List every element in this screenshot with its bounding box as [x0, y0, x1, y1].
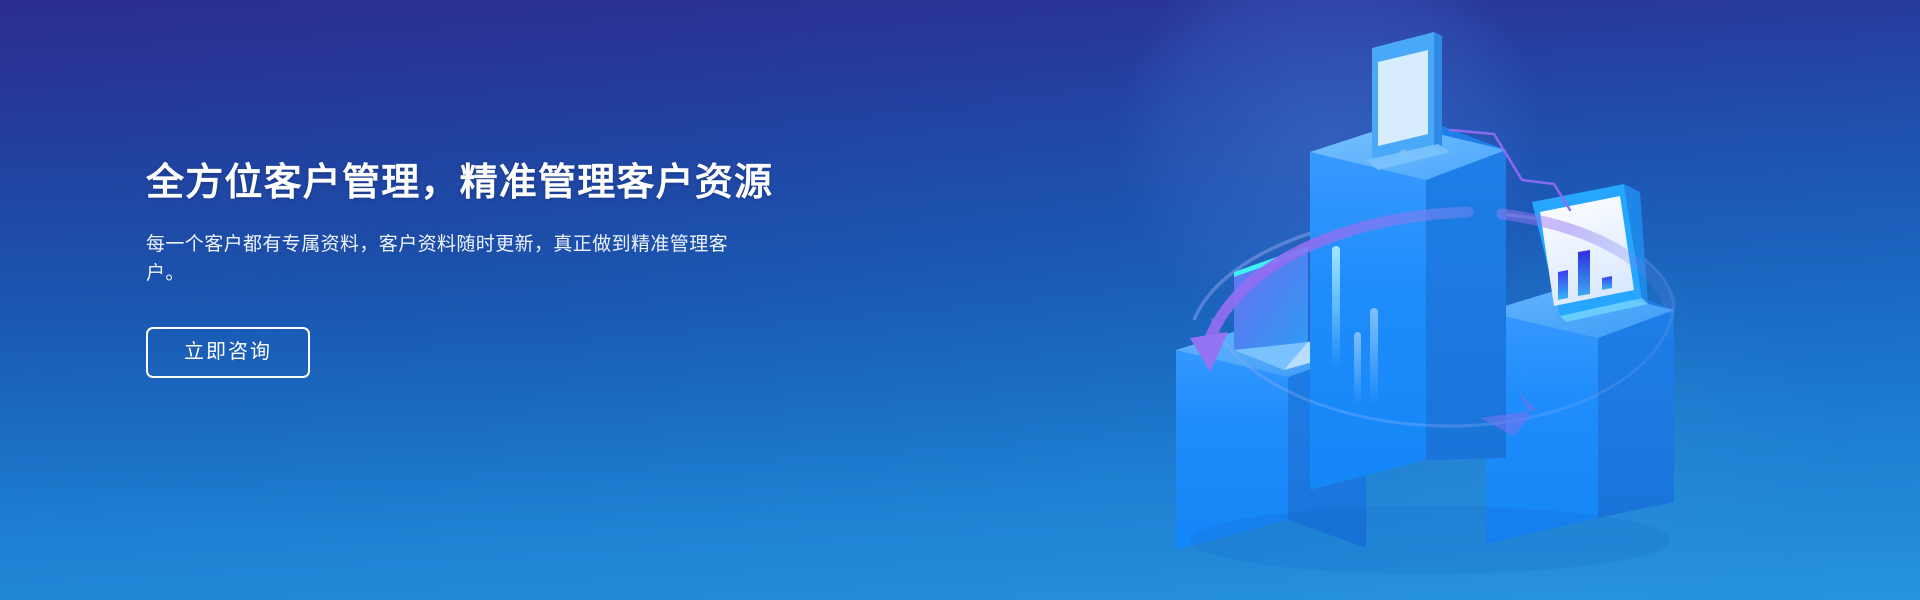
hero-banner: 全方位客户管理，精准管理客户资源 每一个客户都有专属资料，客户资料随时更新，真正…: [0, 0, 1920, 600]
pillar-center: [1310, 120, 1506, 490]
hero-copy-block: 全方位客户管理，精准管理客户资源 每一个客户都有专属资料，客户资料随时更新，真正…: [146, 160, 786, 378]
consult-now-button[interactable]: 立即咨询: [146, 327, 310, 378]
tablet-device: [1366, 32, 1450, 170]
hero-subtitle: 每一个客户都有专属资料，客户资料随时更新，真正做到精准管理客户。: [146, 230, 746, 289]
page-title: 全方位客户管理，精准管理客户资源: [146, 160, 786, 208]
hero-illustration: [1150, 20, 1710, 580]
ground-shadow: [1190, 506, 1670, 574]
